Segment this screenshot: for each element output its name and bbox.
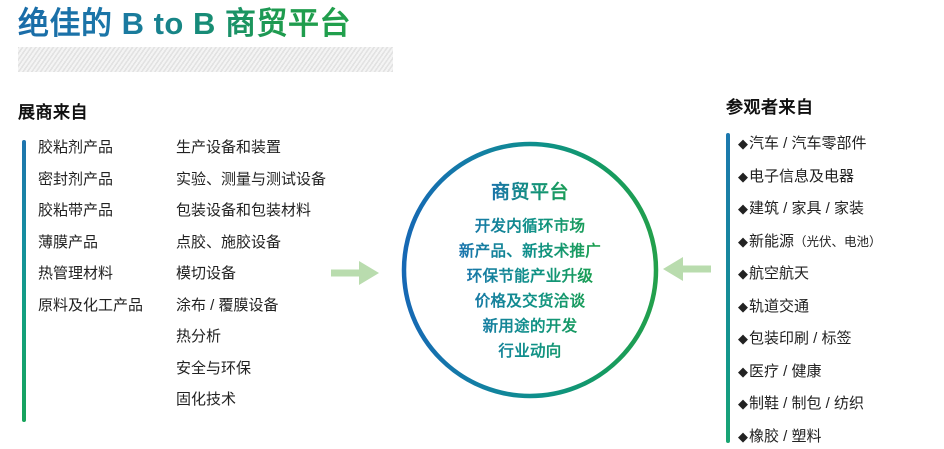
exhibitors-column-b: 生产设备和装置实验、测量与测试设备包装设备和包装材料点胶、施胶设备模切设备涂布 … — [176, 132, 326, 416]
center-circle-line: 开发内循环市场 — [459, 214, 601, 239]
diamond-bullet-icon: ◆ — [738, 266, 748, 281]
exhibitors-accent-rule — [22, 140, 26, 422]
exhibitor-equipment-item: 包装设备和包装材料 — [176, 195, 326, 227]
visitor-industry-label: 制鞋 / 制包 / 纺织 — [749, 395, 864, 412]
visitors-heading: 参观者来自 — [726, 93, 814, 118]
visitor-industry-label: 新能源（光伏、电池） — [749, 233, 882, 250]
diamond-bullet-icon: ◆ — [738, 331, 748, 346]
visitor-industry-item: ◆汽车 / 汽车零部件 — [738, 128, 882, 161]
exhibitor-equipment-item: 模切设备 — [176, 258, 326, 290]
visitor-industry-item: ◆电子信息及电器 — [738, 161, 882, 194]
hatched-divider-bar — [18, 47, 393, 72]
exhibitor-equipment-item: 涂布 / 覆膜设备 — [176, 290, 326, 322]
visitor-industry-item: ◆建筑 / 家具 / 家装 — [738, 193, 882, 226]
exhibitors-column-a: 胶粘剂产品密封剂产品胶粘带产品薄膜产品热管理材料原料及化工产品 — [38, 132, 143, 321]
visitor-industry-label: 建筑 / 家具 / 家装 — [749, 200, 864, 217]
center-circle-line: 价格及交货洽谈 — [459, 289, 601, 314]
diamond-bullet-icon: ◆ — [738, 169, 748, 184]
center-circle-lines: 开发内循环市场新产品、新技术推广环保节能产业升级价格及交货洽谈新用途的开发行业动… — [459, 214, 601, 364]
diamond-bullet-icon: ◆ — [738, 396, 748, 411]
visitors-accent-rule — [726, 133, 730, 443]
visitor-industry-label: 电子信息及电器 — [749, 168, 854, 185]
visitor-industry-item: ◆航空航天 — [738, 258, 882, 291]
visitor-industry-label: 医疗 / 健康 — [749, 363, 822, 380]
exhibitor-equipment-item: 生产设备和装置 — [176, 132, 326, 164]
exhibitor-category-item: 胶粘带产品 — [38, 195, 143, 227]
diamond-bullet-icon: ◆ — [738, 364, 748, 379]
exhibitor-equipment-item: 点胶、施胶设备 — [176, 227, 326, 259]
diamond-bullet-icon: ◆ — [738, 201, 748, 216]
visitors-list: ◆汽车 / 汽车零部件◆电子信息及电器◆建筑 / 家具 / 家装◆新能源（光伏、… — [738, 128, 882, 449]
center-circle-line: 环保节能产业升级 — [459, 264, 601, 289]
diamond-bullet-icon: ◆ — [738, 234, 748, 249]
exhibitor-equipment-item: 固化技术 — [176, 384, 326, 416]
slide-canvas: 绝佳的 B to B 商贸平台 展商来自 胶粘剂产品密封剂产品胶粘带产品薄膜产品… — [0, 0, 944, 449]
exhibitor-equipment-item: 实验、测量与测试设备 — [176, 164, 326, 196]
exhibitors-heading: 展商来自 — [18, 98, 88, 123]
diamond-bullet-icon: ◆ — [738, 136, 748, 151]
visitor-industry-item: ◆医疗 / 健康 — [738, 356, 882, 389]
visitor-industry-item: ◆橡胶 / 塑料 — [738, 421, 882, 449]
visitor-industry-item: ◆新能源（光伏、电池） — [738, 226, 882, 259]
exhibitor-category-item: 薄膜产品 — [38, 227, 143, 259]
arrow-right-icon — [331, 258, 381, 293]
exhibitor-equipment-item: 热分析 — [176, 321, 326, 353]
visitor-industry-label: 包装印刷 / 标签 — [749, 330, 852, 347]
exhibitor-category-item: 密封剂产品 — [38, 164, 143, 196]
exhibitor-category-item: 热管理材料 — [38, 258, 143, 290]
exhibitor-category-item: 原料及化工产品 — [38, 290, 143, 322]
center-circle-line: 新产品、新技术推广 — [459, 239, 601, 264]
visitor-industry-label: 汽车 / 汽车零部件 — [749, 135, 867, 152]
visitor-industry-item: ◆轨道交通 — [738, 291, 882, 324]
diamond-bullet-icon: ◆ — [738, 299, 748, 314]
center-circle-text: 商贸平台 开发内循环市场新产品、新技术推广环保节能产业升级价格及交货洽谈新用途的… — [400, 140, 660, 400]
arrow-left-icon — [659, 254, 711, 289]
exhibitor-category-item: 胶粘剂产品 — [38, 132, 143, 164]
center-circle: 商贸平台 开发内循环市场新产品、新技术推广环保节能产业升级价格及交货洽谈新用途的… — [400, 140, 660, 400]
visitor-industry-label: 轨道交通 — [749, 298, 809, 315]
exhibitor-equipment-item: 安全与环保 — [176, 353, 326, 385]
visitor-industry-item: ◆包装印刷 / 标签 — [738, 323, 882, 356]
center-circle-line: 新用途的开发 — [459, 314, 601, 339]
center-circle-line: 行业动向 — [459, 339, 601, 364]
page-title: 绝佳的 B to B 商贸平台 — [18, 5, 351, 43]
visitor-industry-label: 航空航天 — [749, 265, 809, 282]
center-circle-title: 商贸平台 — [491, 178, 569, 208]
visitor-industry-item: ◆制鞋 / 制包 / 纺织 — [738, 388, 882, 421]
visitor-industry-label: 橡胶 / 塑料 — [749, 428, 822, 445]
diamond-bullet-icon: ◆ — [738, 429, 748, 444]
